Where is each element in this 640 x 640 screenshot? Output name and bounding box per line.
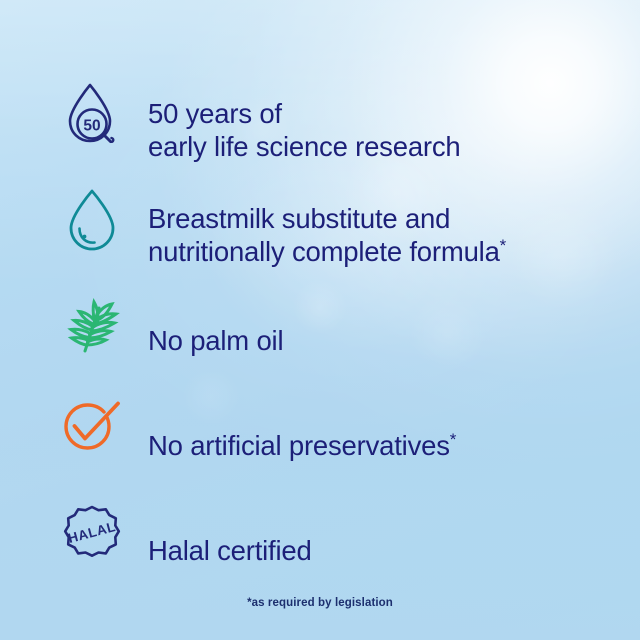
footnote: *as required by legislation xyxy=(0,597,640,609)
product-benefits-panel: 50 50 years of early life science resear… xyxy=(0,0,640,640)
asterisk-marker-3: * xyxy=(450,429,456,448)
feature-label-no-artificial-preservatives: No artificial preservatives* xyxy=(148,395,456,462)
feature-item-halal-certified: HALAL Halal certified xyxy=(0,482,640,587)
droplet-icon xyxy=(56,184,128,256)
feature-item-50-years: 50 50 years of early life science resear… xyxy=(0,62,640,167)
asterisk-marker-1: * xyxy=(500,236,506,255)
footnote-text: *as required by legislation xyxy=(247,597,393,609)
feature-label-halal-certified: Halal certified xyxy=(148,500,312,567)
feature-text-3: No artificial preservatives xyxy=(148,430,450,461)
feature-text-2: No palm oil xyxy=(148,325,283,356)
feature-label-no-palm-oil: No palm oil xyxy=(148,290,283,357)
droplet-50-label: 50 xyxy=(83,117,100,134)
halal-badge-icon: HALAL xyxy=(56,499,128,571)
check-circle-icon xyxy=(56,394,128,466)
feature-text-4: Halal certified xyxy=(148,535,312,566)
feature-text-1: Breastmilk substitute and nutritionally … xyxy=(148,203,500,268)
feature-label-breastmilk-substitute: Breastmilk substitute and nutritionally … xyxy=(148,168,506,269)
feature-item-no-artificial-preservatives: No artificial preservatives* xyxy=(0,377,640,482)
feature-text-0: 50 years of early life science research xyxy=(148,98,461,163)
leaf-icon xyxy=(56,289,128,361)
halal-badge-label: HALAL xyxy=(66,518,117,545)
feature-item-breastmilk-substitute: Breastmilk substitute and nutritionally … xyxy=(0,167,640,272)
feature-label-50-years: 50 years of early life science research xyxy=(148,63,461,164)
feature-list: 50 50 years of early life science resear… xyxy=(0,62,640,587)
droplet-magnifier-50-icon: 50 xyxy=(56,79,128,151)
feature-item-no-palm-oil: No palm oil xyxy=(0,272,640,377)
